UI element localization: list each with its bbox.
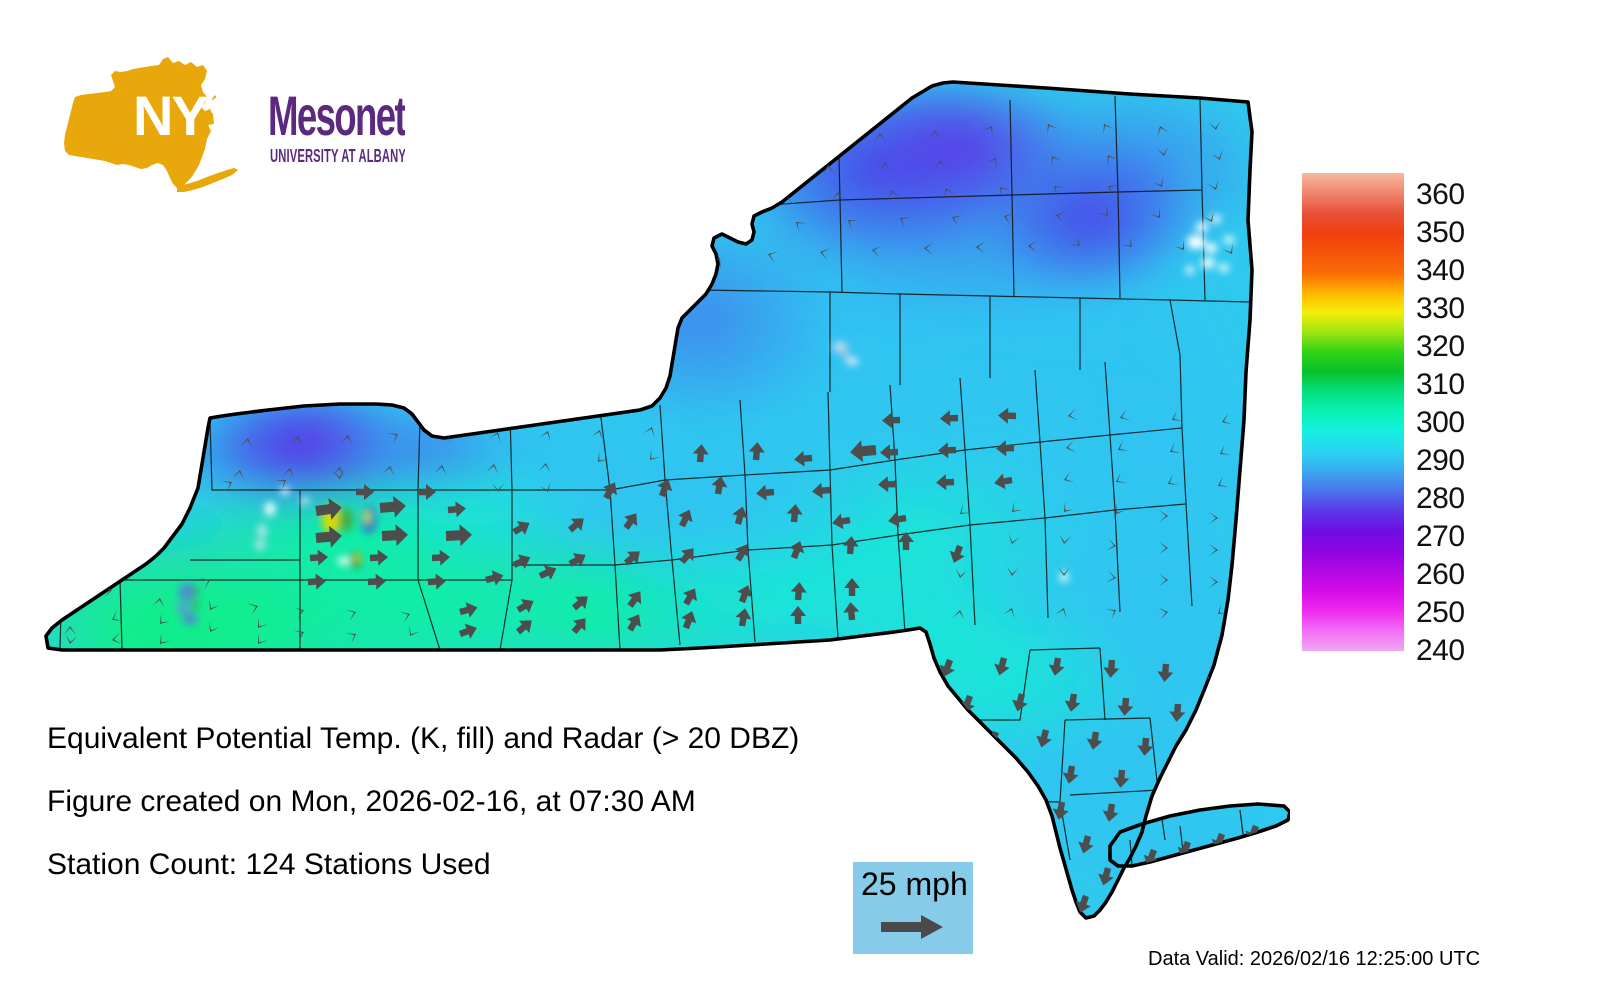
theta-e-fill-layer — [0, 20, 1290, 960]
colorbar-gradient — [1302, 173, 1404, 651]
wind-legend-label: 25 mph — [861, 866, 968, 902]
colorbar-tick-350: 350 — [1416, 218, 1465, 248]
colorbar-tick-250: 250 — [1416, 598, 1465, 628]
colorbar-tick-270: 270 — [1416, 522, 1465, 552]
colorbar-tick-320: 320 — [1416, 332, 1465, 362]
weather-map[interactable] — [0, 20, 1290, 960]
right-arrow-icon — [881, 914, 945, 945]
colorbar-tick-240: 240 — [1416, 636, 1465, 666]
colorbar-tick-360: 360 — [1416, 180, 1465, 210]
station-count-text: Station Count: 124 Stations Used — [47, 848, 491, 882]
figure-created-text: Figure created on Mon, 2026-02-16, at 07… — [47, 785, 696, 819]
colorbar-tick-330: 330 — [1416, 294, 1465, 324]
colorbar-tick-310: 310 — [1416, 370, 1465, 400]
colorbar: 360 350 340 330 320 310 300 290 280 270 … — [1302, 173, 1592, 653]
data-valid-timestamp: Data Valid: 2026/02/16 12:25:00 UTC — [1148, 948, 1480, 971]
colorbar-tick-280: 280 — [1416, 484, 1465, 514]
colorbar-tick-300: 300 — [1416, 408, 1465, 438]
colorbar-tick-260: 260 — [1416, 560, 1465, 590]
figure-title: Equivalent Potential Temp. (K, fill) and… — [47, 722, 799, 756]
colorbar-tick-290: 290 — [1416, 446, 1465, 476]
map-canvas[interactable] — [0, 20, 1290, 960]
colorbar-tick-340: 340 — [1416, 256, 1465, 286]
wind-speed-legend: 25 mph — [853, 862, 973, 954]
